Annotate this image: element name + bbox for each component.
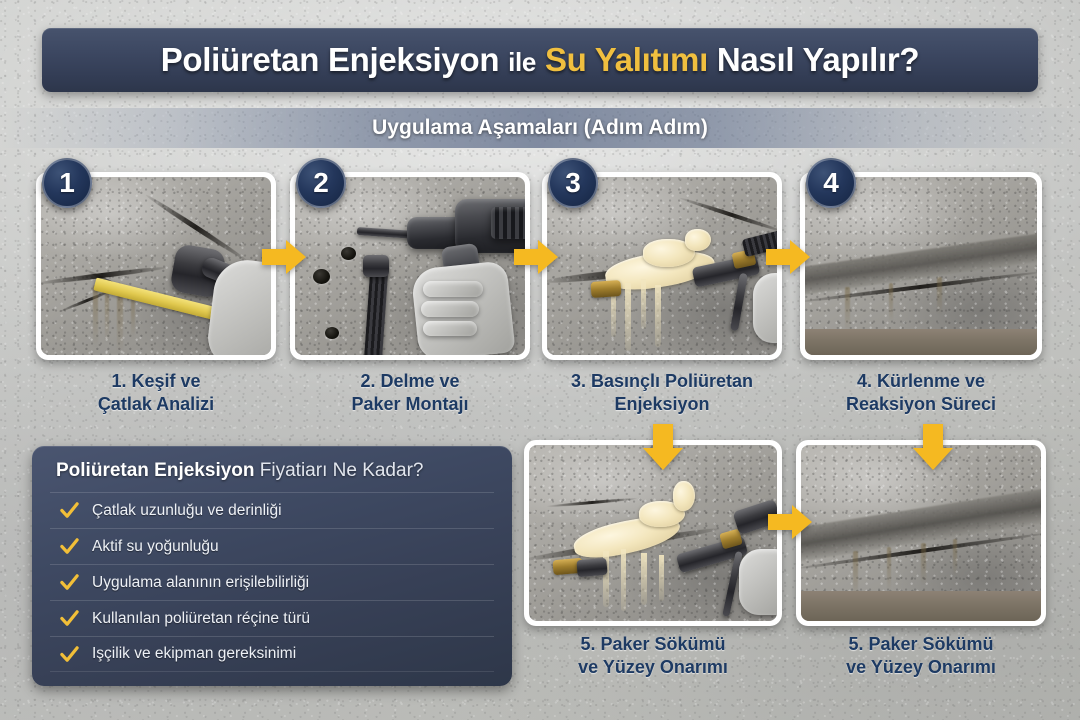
title-conjunction: ile [508,47,536,77]
ground-strip [805,329,1037,355]
step-badge-2: 2 [296,158,346,208]
step-caption-2: 2. Delme ve Paker Montajı [290,370,530,415]
hammer-drill-vents [491,207,525,239]
step-caption-5b: 5. Paker Sökümü ve Yüzey Onarımı [796,633,1046,678]
step-caption-5a: 5. Paker Sökümü ve Yüzey Onarımı [524,633,782,678]
list-item-label: Uygulama alanının erişilebilirliği [92,574,309,592]
foam-drip [655,285,661,347]
caption-line-1: 5. Paker Sökümü [524,633,782,656]
step-card-2[interactable]: 2 [290,172,530,360]
caption-line-2: Reaksiyon Süreci [800,393,1042,416]
caption-line-1: 1. Keşif ve [36,370,276,393]
step-caption-3: 3. Basınçlı Poliüretan Enjeksiyon [532,370,792,415]
title-part1: Poliüretan Enjeksiyon [161,41,499,78]
step-photo-5b [801,445,1041,621]
list-item: Kullanılan poliüretan réçine türü [50,600,494,636]
caption-line-2: ve Yüzey Onarımı [796,656,1046,679]
foam-drip [641,279,646,329]
check-icon [60,501,79,520]
step-badge-4: 4 [806,158,856,208]
step-badge-3: 3 [548,158,598,208]
caption-line-2: Çatlak Analizi [36,393,276,416]
drilled-hole [313,269,330,284]
foam-drip [659,555,664,601]
ground-strip [801,591,1041,621]
caption-line-1: 3. Basınçlı Poliüretan [532,370,792,393]
page-title: Poliüretan Enjeksiyon ile Su Yalıtımı Na… [161,41,920,79]
arrow-down-icon [643,424,683,470]
arrow-right-icon [262,240,306,274]
check-icon [60,537,79,556]
glove-hand [753,273,777,343]
caption-line-1: 5. Paker Sökümü [796,633,1046,656]
step-badge-1: 1 [42,158,92,208]
step-caption-1: 1. Keşif ve Çatlak Analizi [36,370,276,415]
panel-heading: Poliüretan Enjeksiyon Fiyatiarı Ne Kadar… [50,460,494,482]
foam-drip [641,553,647,605]
water-stain [889,283,893,323]
water-stain [93,285,98,347]
glove-fingers [423,281,483,297]
foam-drip [625,283,631,351]
price-factor-list: Çatlak uzunluğu ve derinliği Aktif su yo… [50,492,494,672]
check-icon [60,645,79,664]
caption-line-2: Enjeksiyon [532,393,792,416]
water-stain [953,539,957,577]
caption-line-2: Paker Montajı [290,393,530,416]
title-bar: Poliüretan Enjeksiyon ile Su Yalıtımı Na… [42,28,1038,92]
packer-body [576,558,607,578]
list-item-label: Kullanılan poliüretan réçine türü [92,610,310,628]
list-item: Aktif su yoğunluğu [50,528,494,564]
glove-fingers [423,321,477,336]
infographic-canvas: Poliüretan Enjeksiyon ile Su Yalıtımı Na… [0,0,1080,720]
list-item: Çatlak uzunluğu ve derinliği [50,492,494,528]
subtitle-band: Uygulama Aşamaları (Adım Adım) [0,108,1080,148]
arrow-right-icon [514,240,558,274]
check-icon [60,573,79,592]
step-card-3[interactable]: 3 [542,172,782,360]
title-part2: Nasıl Yapılır? [717,41,919,78]
packer-nipple [590,280,621,298]
list-item: Işçilik ve ekipman gereksinimi [50,636,494,672]
list-item-label: Aktif su yoğunluğu [92,538,219,556]
water-stain [937,277,942,315]
glove-fingers [421,301,479,317]
water-stain [845,287,850,331]
drilled-hole [341,247,356,260]
caption-line-1: 2. Delme ve [290,370,530,393]
step-card-4[interactable]: 4 [800,172,1042,360]
panel-heading-bold: Poliüretan Enjeksiyon [56,460,255,481]
water-stain [105,289,109,343]
arrow-down-icon [913,424,953,470]
subtitle: Uygulama Aşamaları (Adım Adım) [372,116,708,140]
list-item: Uygulama alanının erişilebilirliği [50,564,494,600]
drilled-hole [325,327,339,339]
panel-heading-normal: Fiyatiarı Ne Kadar? [260,460,424,481]
caption-line-2: ve Yüzey Onarımı [524,656,782,679]
title-highlight: Su Yalıtımı [545,41,708,78]
glove-hand [739,549,777,615]
arrow-right-icon [766,240,810,274]
foam-drip [621,549,626,611]
step-photo-5a [529,445,777,621]
price-factors-panel: Poliüretan Enjeksiyon Fiyatiarı Ne Kadar… [32,446,512,686]
check-icon [60,609,79,628]
water-stain [921,543,926,585]
arrow-right-icon [768,505,812,539]
step-card-1[interactable]: 1 [36,172,276,360]
list-item-label: Işçilik ve ekipman gereksinimi [92,645,296,663]
list-item-label: Çatlak uzunluğu ve derinliği [92,502,282,520]
packer-head [363,255,389,277]
caption-line-1: 4. Kürlenme ve [800,370,1042,393]
water-stain [887,547,891,591]
step-caption-4: 4. Kürlenme ve Reaksiyon Süreci [800,370,1042,415]
